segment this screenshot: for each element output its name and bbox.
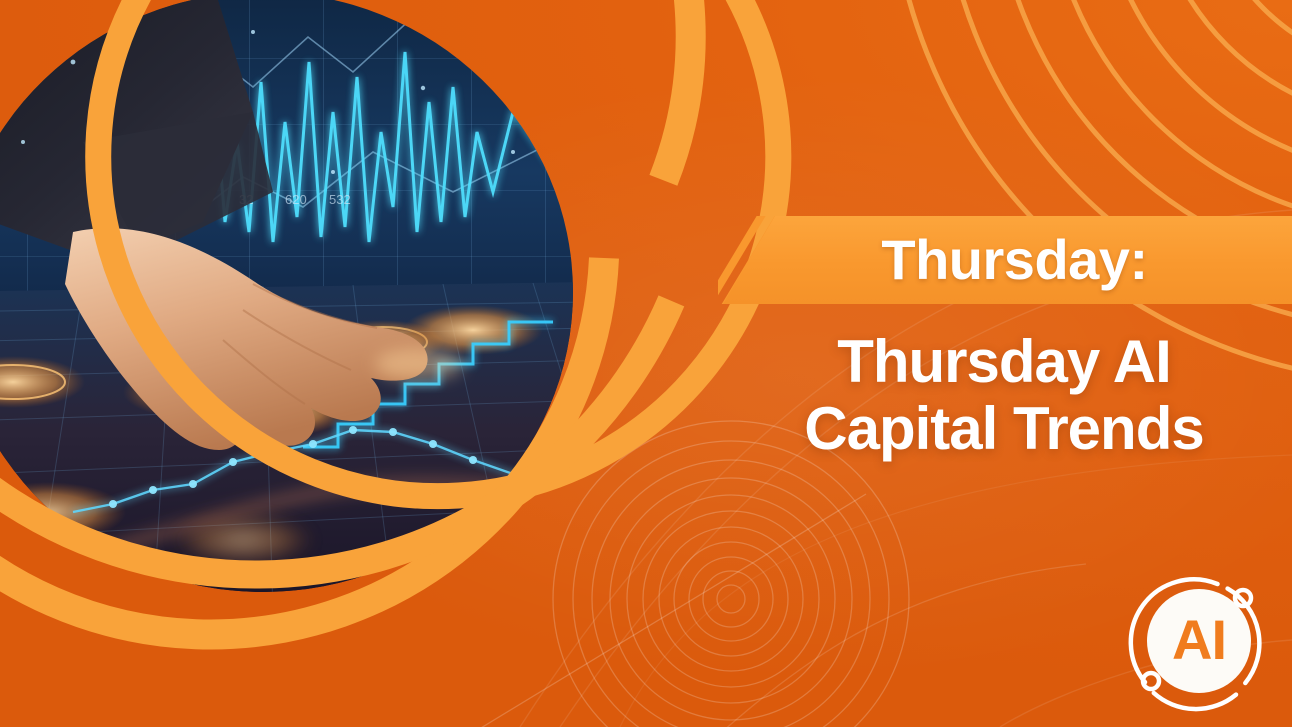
- ai-logo: AI: [1124, 566, 1274, 716]
- hero-photo-backdrop: 1 31 5 2 120 32 620 532: [0, 0, 573, 592]
- page-title: Thursday AI Capital Trends: [716, 328, 1292, 462]
- hero-photo: 1 31 5 2 120 32 620 532: [0, 0, 573, 592]
- banner-label: Thursday:: [723, 216, 1292, 304]
- page-title-line-2: Capital Trends: [734, 395, 1274, 462]
- page-title-line-1: Thursday AI: [734, 328, 1274, 395]
- svg-text:532: 532: [329, 192, 351, 207]
- ai-logo-text: AI: [1124, 566, 1274, 716]
- slide-canvas: 1 31 5 2 120 32 620 532: [0, 0, 1292, 727]
- svg-text:620: 620: [285, 192, 307, 207]
